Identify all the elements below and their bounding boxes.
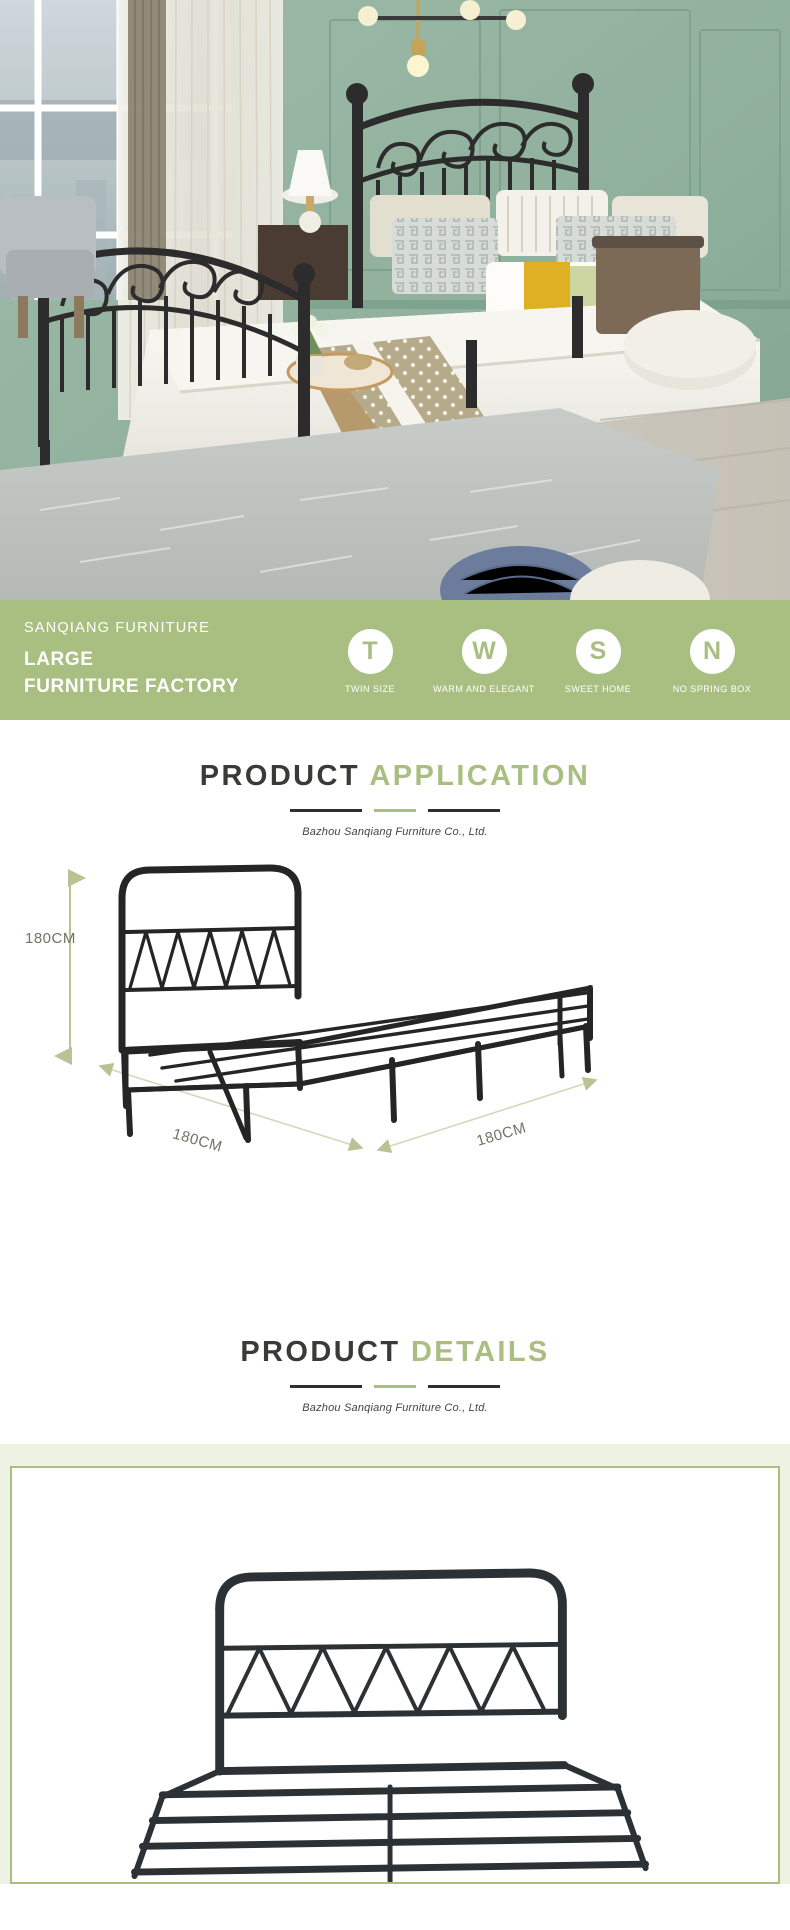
heading-divider (0, 1385, 790, 1388)
company-subtitle: Bazhou Sanqiang Furniture Co., Ltd. (0, 826, 790, 838)
page-title-details: PRODUCT DETAILS (0, 1338, 790, 1367)
section-heading-details: PRODUCT DETAILS Bazhou Sanqiang Furnitur… (0, 1328, 790, 1414)
page-title: PRODUCT APPLICATION (0, 762, 790, 791)
feature-banner: SANQIANG FURNITURE LARGE FURNITURE FACTO… (0, 600, 790, 720)
feature-badge-no-spring-box: N NO SPRING BOX (658, 629, 766, 695)
dimension-diagram: 180CM 180CM 180CM (0, 838, 790, 1328)
company-subtitle: Bazhou Sanqiang Furniture Co., Ltd. (0, 1402, 790, 1414)
banner-brand: SANQIANG FURNITURE (24, 620, 316, 636)
divider-center (374, 1385, 416, 1388)
banner-headline-line1: LARGE (24, 647, 316, 674)
banner-text-block: SANQIANG FURNITURE LARGE FURNITURE FACTO… (24, 620, 316, 701)
badge-letter-icon: T (348, 629, 393, 674)
title-dark-part: PRODUCT (200, 760, 360, 792)
detail-photo-block (0, 1444, 790, 1884)
hero-bedroom-image (0, 0, 790, 600)
badge-label: NO SPRING BOX (658, 683, 766, 695)
feature-badge-twin-size: T TWIN SIZE (316, 629, 424, 695)
bed-frame-diagram (0, 838, 790, 1328)
divider-left (290, 1385, 362, 1388)
divider-center (374, 809, 416, 812)
title-accent-part: DETAILS (411, 1336, 550, 1368)
badge-letter-icon: W (462, 629, 507, 674)
divider-right (428, 1385, 500, 1388)
badge-letter-icon: N (690, 629, 735, 674)
title-accent-part: APPLICATION (369, 760, 590, 792)
hero-illustration (0, 0, 790, 600)
divider-left (290, 809, 362, 812)
headboard-closeup-illustration (12, 1468, 778, 1882)
heading-divider (0, 809, 790, 812)
badge-label: WARM AND ELEGANT (430, 683, 538, 695)
badge-label: TWIN SIZE (316, 683, 424, 695)
dimension-label-height: 180CM (25, 930, 76, 947)
detail-photo-frame (10, 1466, 780, 1884)
badge-label: SWEET HOME (544, 683, 652, 695)
title-dark-part: PRODUCT (240, 1336, 400, 1368)
banner-headline-line2: FURNITURE FACTORY (24, 674, 316, 701)
banner-badge-list: T TWIN SIZE W WARM AND ELEGANT S SWEET H… (316, 625, 766, 695)
feature-badge-warm-elegant: W WARM AND ELEGANT (430, 629, 538, 695)
divider-right (428, 809, 500, 812)
product-detail-page: SANQIANG FURNITURE LARGE FURNITURE FACTO… (0, 0, 790, 1884)
feature-badge-sweet-home: S SWEET HOME (544, 629, 652, 695)
section-heading-application: PRODUCT APPLICATION Bazhou Sanqiang Furn… (0, 720, 790, 838)
badge-letter-icon: S (576, 629, 621, 674)
